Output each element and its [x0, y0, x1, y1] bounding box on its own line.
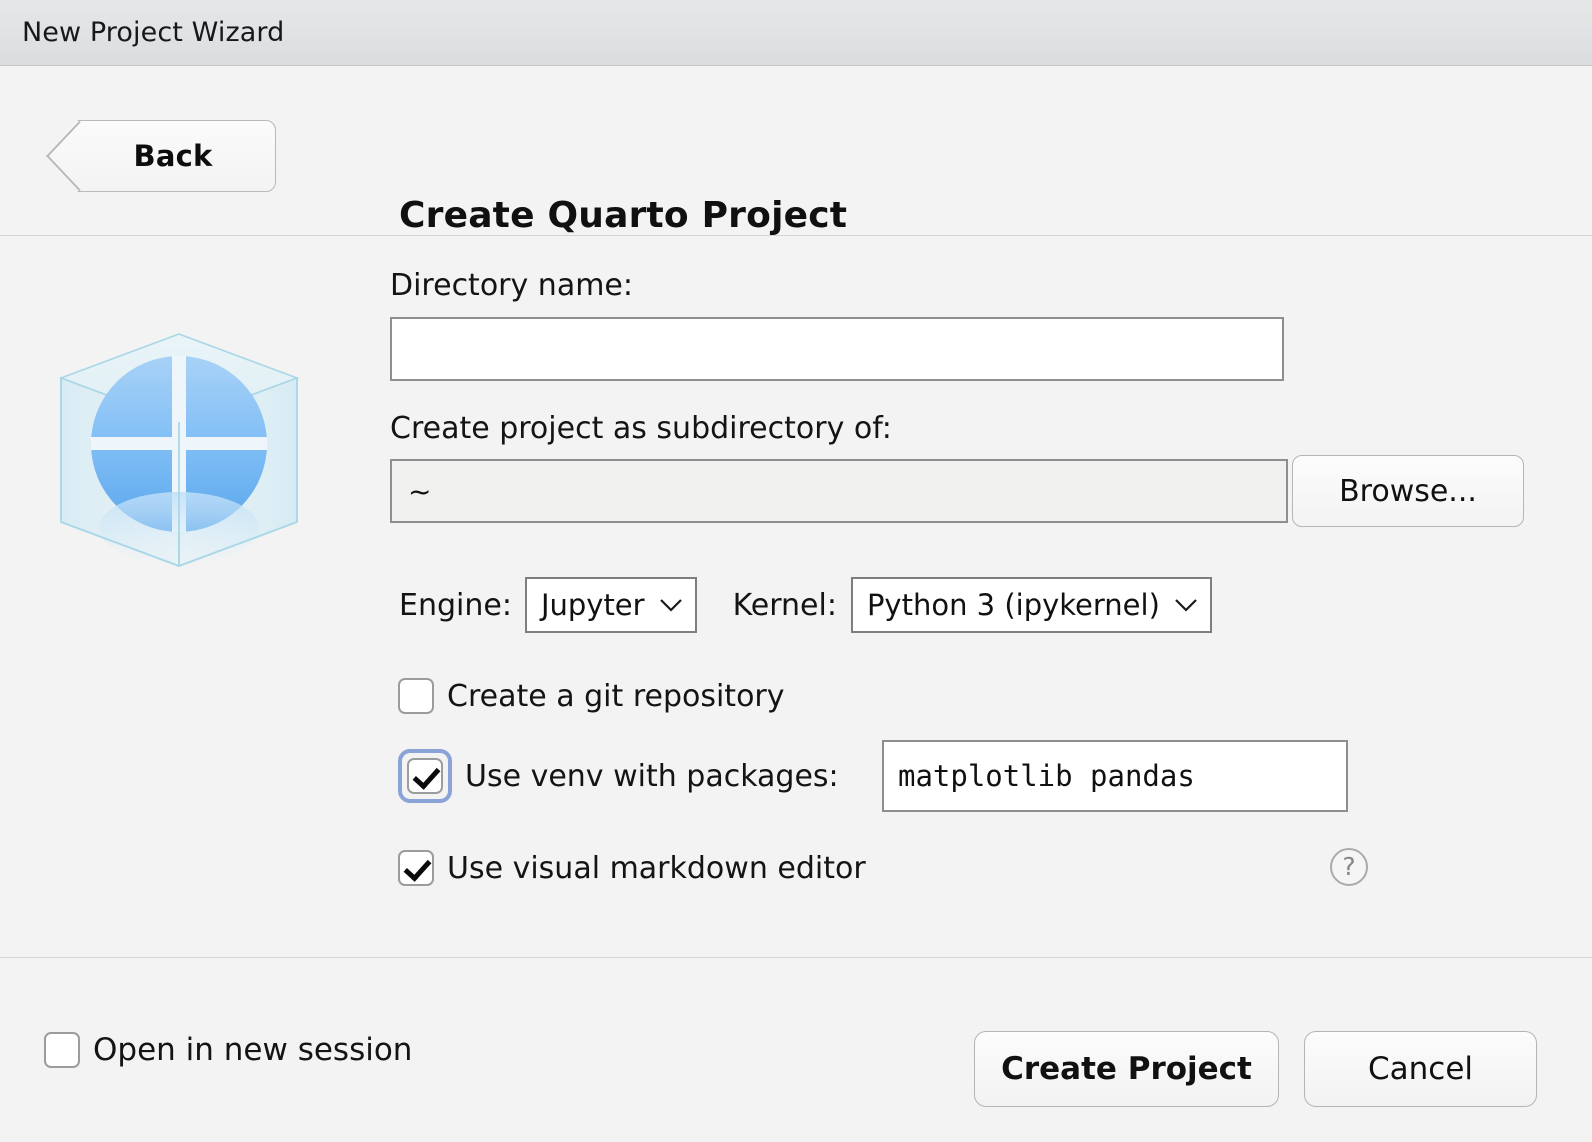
- venv-checkbox[interactable]: [407, 758, 443, 794]
- visual-markdown-editor-checkbox[interactable]: [398, 850, 434, 886]
- subdirectory-input[interactable]: [390, 459, 1288, 523]
- open-in-new-session-label: Open in new session: [93, 1032, 412, 1068]
- directory-name-input[interactable]: [390, 317, 1284, 381]
- back-button[interactable]: Back: [46, 120, 276, 192]
- visual-markdown-editor-label: Use visual markdown editor: [447, 851, 866, 886]
- question-mark-icon[interactable]: ?: [1330, 848, 1368, 886]
- subdirectory-label: Create project as subdirectory of:: [390, 411, 892, 447]
- quarto-project-cube-icon: [44, 322, 314, 572]
- engine-select[interactable]: Jupyter: [525, 577, 697, 633]
- engine-select-value: Jupyter: [541, 588, 645, 622]
- engine-kernel-row: Engine: Jupyter Kernel: Python 3 (ipyker…: [399, 577, 1212, 633]
- back-button-label: Back: [134, 139, 213, 173]
- browse-button[interactable]: Browse...: [1292, 455, 1524, 527]
- cancel-button[interactable]: Cancel: [1304, 1031, 1537, 1107]
- chevron-down-icon: [1174, 598, 1198, 612]
- venv-packages-input[interactable]: [882, 740, 1348, 812]
- git-repository-label: Create a git repository: [447, 679, 785, 714]
- wizard-body: Directory name: Create project as subdir…: [0, 237, 1592, 957]
- window-title: New Project Wizard: [22, 17, 284, 49]
- engine-label: Engine:: [399, 588, 512, 623]
- kernel-label: Kernel:: [733, 588, 837, 623]
- wizard-footer: Open in new session Create Project Cance…: [0, 957, 1592, 1142]
- open-in-new-session-row[interactable]: Open in new session: [44, 1032, 412, 1068]
- kernel-select-value: Python 3 (ipykernel): [867, 588, 1160, 622]
- create-project-button[interactable]: Create Project: [974, 1031, 1279, 1107]
- window-titlebar: New Project Wizard: [0, 0, 1592, 66]
- venv-row[interactable]: Use venv with packages:: [398, 752, 839, 800]
- kernel-select[interactable]: Python 3 (ipykernel): [851, 577, 1212, 633]
- chevron-down-icon: [659, 598, 683, 612]
- visual-markdown-editor-row[interactable]: Use visual markdown editor: [398, 844, 866, 892]
- page-title: Create Quarto Project: [399, 195, 847, 236]
- open-in-new-session-checkbox[interactable]: [44, 1032, 80, 1068]
- venv-label: Use venv with packages:: [465, 759, 839, 794]
- git-repository-checkbox[interactable]: [398, 678, 434, 714]
- venv-checkbox-focus-ring: [398, 749, 452, 803]
- directory-name-label: Directory name:: [390, 268, 633, 304]
- wizard-header: Back Create Quarto Project: [0, 67, 1592, 236]
- git-repository-row[interactable]: Create a git repository: [398, 672, 785, 720]
